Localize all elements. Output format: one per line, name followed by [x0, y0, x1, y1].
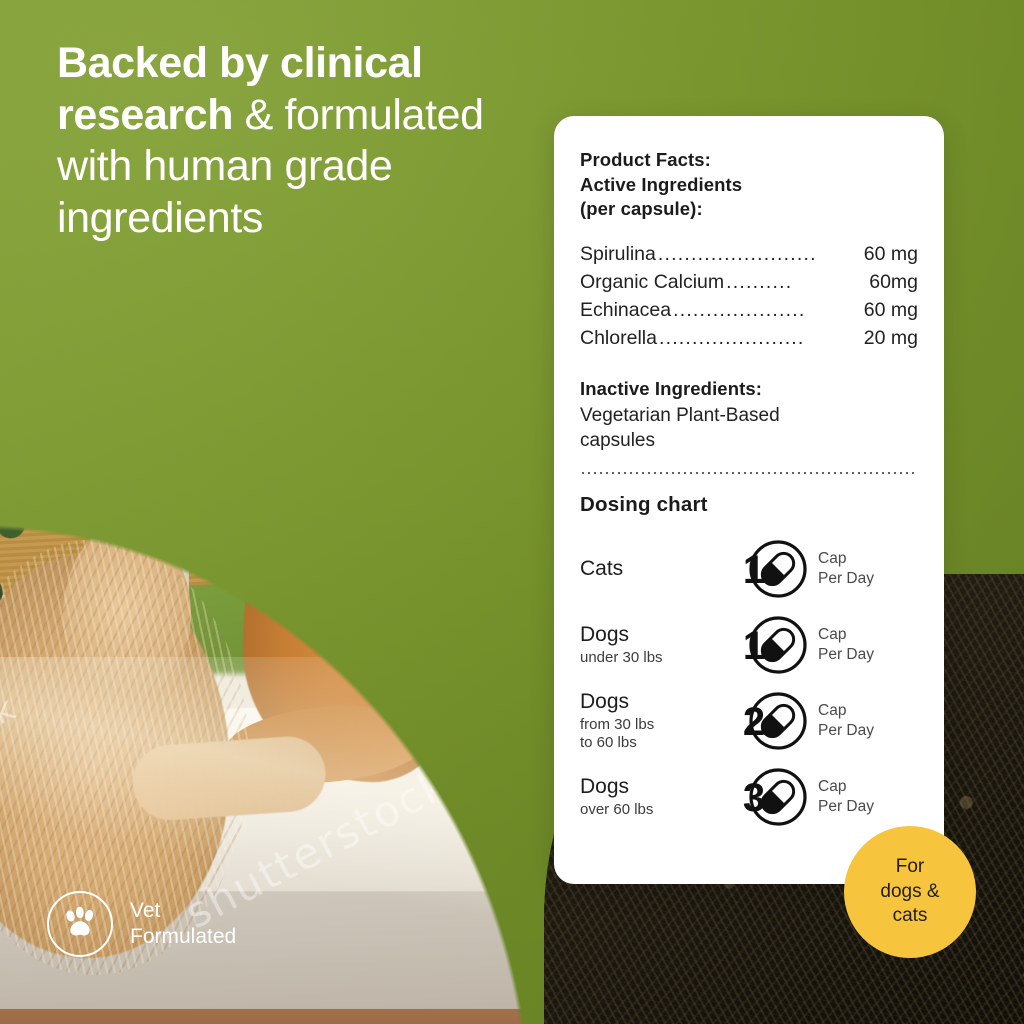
ingredient-amount: 60 mg [864, 240, 918, 268]
ingredient-amount: 60 mg [864, 296, 918, 324]
capsule-count-number: 3 [743, 776, 765, 820]
dosing-row: Dogs over 60 lbs 3 Cap Per Day [580, 759, 918, 835]
dosing-unit-line-1: Cap [818, 702, 846, 719]
dosing-row-label: Cats [580, 557, 732, 581]
ingredient-row: Organic Calcium .......... 60mg [580, 268, 918, 296]
dosing-unit-line-1: Cap [818, 626, 846, 643]
product-facts-title-line-1: Product Facts: [580, 149, 711, 170]
ingredient-leader-dots: ........................ [658, 240, 862, 268]
inactive-body-line-1: Vegetarian Plant-Based [580, 405, 780, 426]
ingredient-row: Chlorella ...................... 20 mg [580, 324, 918, 352]
paw-print-icon [61, 906, 99, 942]
inactive-ingredients-section: Inactive Ingredients: Vegetarian Plant-B… [580, 378, 918, 453]
dosing-chart-heading: Dosing chart [580, 493, 918, 517]
product-facts-card: Product Facts: Active Ingredients (per c… [554, 116, 944, 884]
capsule-count-icon: 1 [732, 533, 810, 605]
dosing-animal: Dogs [580, 775, 732, 799]
capsule-count-icon: 2 [732, 685, 810, 757]
headline-bold-2: research [57, 91, 233, 139]
dosing-unit-line-2: Per Day [818, 798, 874, 815]
capsule-count-number: 2 [743, 700, 765, 744]
capsule-count-icon: 3 [732, 761, 810, 833]
dosing-unit: Cap Per Day [810, 549, 918, 589]
product-facts-title-line-3: (per capsule): [580, 198, 703, 219]
page-title: Backed by clinical research & formulated… [57, 38, 557, 244]
headline-rest: & formulated [233, 91, 484, 139]
dosing-unit-line-2: Per Day [818, 722, 874, 739]
inactive-ingredients-heading: Inactive Ingredients: [580, 378, 918, 400]
poster-canvas: shutterstock Backed by clinical research… [0, 0, 1024, 1024]
dosing-qualifier: over 60 lbs [580, 801, 732, 819]
ingredient-name: Organic Calcium [580, 268, 724, 296]
dosing-animal: Cats [580, 557, 732, 581]
capsule-count-number: 1 [743, 548, 765, 592]
active-ingredients-list: Spirulina ........................ 60 mg… [580, 240, 918, 352]
headline-line-4: ingredients [57, 194, 263, 242]
ingredient-leader-dots: .......... [726, 268, 867, 296]
headline-line-3: with human grade [57, 142, 392, 190]
floor [0, 1009, 574, 1024]
capsule-count-icon: 1 [732, 609, 810, 681]
dosing-unit-line-2: Per Day [818, 570, 874, 587]
dosing-unit-line-2: Per Day [818, 646, 874, 663]
ingredient-leader-dots: ...................... [659, 324, 862, 352]
dosing-row-label: Dogs from 30 lbs to 60 lbs [580, 690, 732, 752]
yellow-badge-text: For dogs & cats [880, 855, 939, 929]
ingredient-name: Chlorella [580, 324, 657, 352]
dosing-unit-line-1: Cap [818, 550, 846, 567]
capsule-count-number: 1 [743, 624, 765, 668]
dosing-row-label: Dogs over 60 lbs [580, 775, 732, 819]
ingredient-leader-dots: .................... [673, 296, 862, 324]
for-dogs-and-cats-badge: For dogs & cats [844, 826, 976, 958]
yellow-badge-line-3: cats [893, 905, 928, 926]
ingredient-amount: 60mg [869, 268, 918, 296]
vet-badge-label: Vet Formulated [130, 898, 236, 950]
dosing-unit-line-1: Cap [818, 778, 846, 795]
product-facts-heading: Product Facts: Active Ingredients (per c… [580, 148, 918, 222]
headline-bold-1: Backed by clinical [57, 39, 423, 87]
vet-formulated-badge: Vet Formulated [47, 891, 236, 957]
vet-badge-line-1: Vet [130, 899, 160, 922]
yellow-badge-line-2: dogs & [880, 881, 939, 902]
dosing-unit: Cap Per Day [810, 701, 918, 741]
dosing-row: Dogs from 30 lbs to 60 lbs 2 [580, 683, 918, 759]
ingredient-row: Echinacea .................... 60 mg [580, 296, 918, 324]
ingredient-name: Echinacea [580, 296, 671, 324]
ingredient-amount: 20 mg [864, 324, 918, 352]
dosing-unit: Cap Per Day [810, 777, 918, 817]
dosing-qualifier-line-1: from 30 lbs [580, 716, 654, 733]
dosing-chart-rows: Cats 1 Cap Per Day [580, 531, 918, 835]
ingredient-name: Spirulina [580, 240, 656, 268]
vet-badge-line-2: Formulated [130, 925, 236, 948]
dosing-row-label: Dogs under 30 lbs [580, 623, 732, 667]
product-facts-title-line-2: Active Ingredients [580, 174, 742, 195]
inactive-body-line-2: capsules [580, 430, 655, 451]
yellow-badge-line-1: For [896, 856, 925, 877]
inactive-ingredients-body: Vegetarian Plant-Based capsules [580, 403, 918, 453]
dosing-animal: Dogs [580, 623, 732, 647]
dosing-animal: Dogs [580, 690, 732, 714]
dosing-row: Dogs under 30 lbs 1 Cap Per Day [580, 607, 918, 683]
dotted-divider [580, 472, 918, 474]
dosing-row: Cats 1 Cap Per Day [580, 531, 918, 607]
dosing-qualifier: from 30 lbs to 60 lbs [580, 716, 732, 753]
ingredient-row: Spirulina ........................ 60 mg [580, 240, 918, 268]
dosing-unit: Cap Per Day [810, 625, 918, 665]
dosing-qualifier-line-2: to 60 lbs [580, 734, 637, 751]
vet-badge-circle [47, 891, 113, 957]
dosing-qualifier: under 30 lbs [580, 649, 732, 667]
